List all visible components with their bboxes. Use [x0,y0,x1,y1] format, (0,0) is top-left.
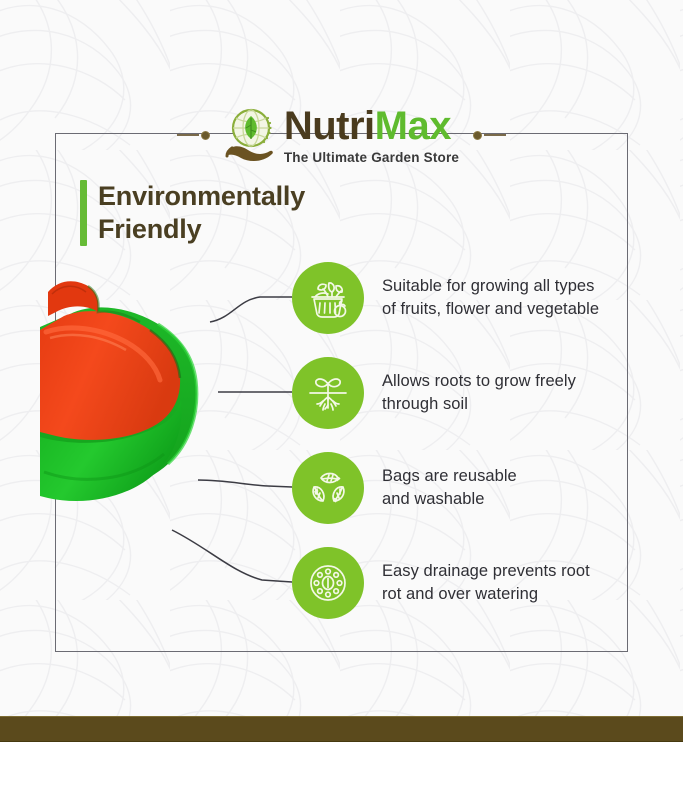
feature-item-2: Allows roots to grow freely through soil [292,357,632,429]
feature-4-line-1: Easy drainage prevents root [382,560,590,583]
feature-item-1: Suitable for growing all types of fruits… [292,262,632,334]
bottom-accent-bar [0,716,683,742]
deco-dot-left [201,131,210,140]
feature-text-2: Allows roots to grow freely through soil [382,370,576,417]
title-line-1: Environmentally [98,180,305,213]
header-decoration-right [473,131,506,140]
brand-wordmark: NutriMax [284,106,459,146]
title-text: Environmentally Friendly [98,180,305,246]
feature-text-3: Bags are reusable and washable [382,465,517,512]
feature-item-4: Easy drainage prevents root rot and over… [292,547,632,619]
title-accent-bar [80,180,87,246]
drainage-holes-icon [292,547,364,619]
feature-text-1: Suitable for growing all types of fruits… [382,275,599,322]
page-title: Environmentally Friendly [80,180,305,246]
vegetable-basket-icon [292,262,364,334]
feature-2-line-2: through soil [382,393,576,416]
seedling-roots-icon [292,357,364,429]
feature-item-3: Bags are reusable and washable [292,452,632,524]
brand-wordmark-block: NutriMax The Ultimate Garden Store [284,106,459,165]
deco-line-right [484,134,506,136]
title-line-2: Friendly [98,213,305,246]
feature-2-line-1: Allows roots to grow freely [382,370,576,393]
deco-line-left [177,134,199,136]
grow-bag-product-image [40,272,240,562]
recycle-leaves-icon [292,452,364,524]
deco-dot-right [473,131,482,140]
brand-header: NutriMax The Ultimate Garden Store [0,100,683,170]
feature-text-4: Easy drainage prevents root rot and over… [382,560,590,607]
brand-name-part1: Nutri [284,104,375,148]
header-decoration-left [177,131,210,140]
feature-1-line-1: Suitable for growing all types [382,275,599,298]
globe-leaf-in-hand-logo-icon [224,106,278,164]
brand-name-part2: Max [375,104,451,148]
brand-tagline: The Ultimate Garden Store [284,151,459,165]
feature-3-line-2: and washable [382,488,517,511]
bottom-white-area [0,742,683,800]
feature-4-line-2: rot and over watering [382,583,590,606]
infographic-page: NutriMax The Ultimate Garden Store Envir… [0,0,683,800]
feature-1-line-2: of fruits, flower and vegetable [382,298,599,321]
brand-logo: NutriMax The Ultimate Garden Store [224,106,459,165]
feature-3-line-1: Bags are reusable [382,465,517,488]
